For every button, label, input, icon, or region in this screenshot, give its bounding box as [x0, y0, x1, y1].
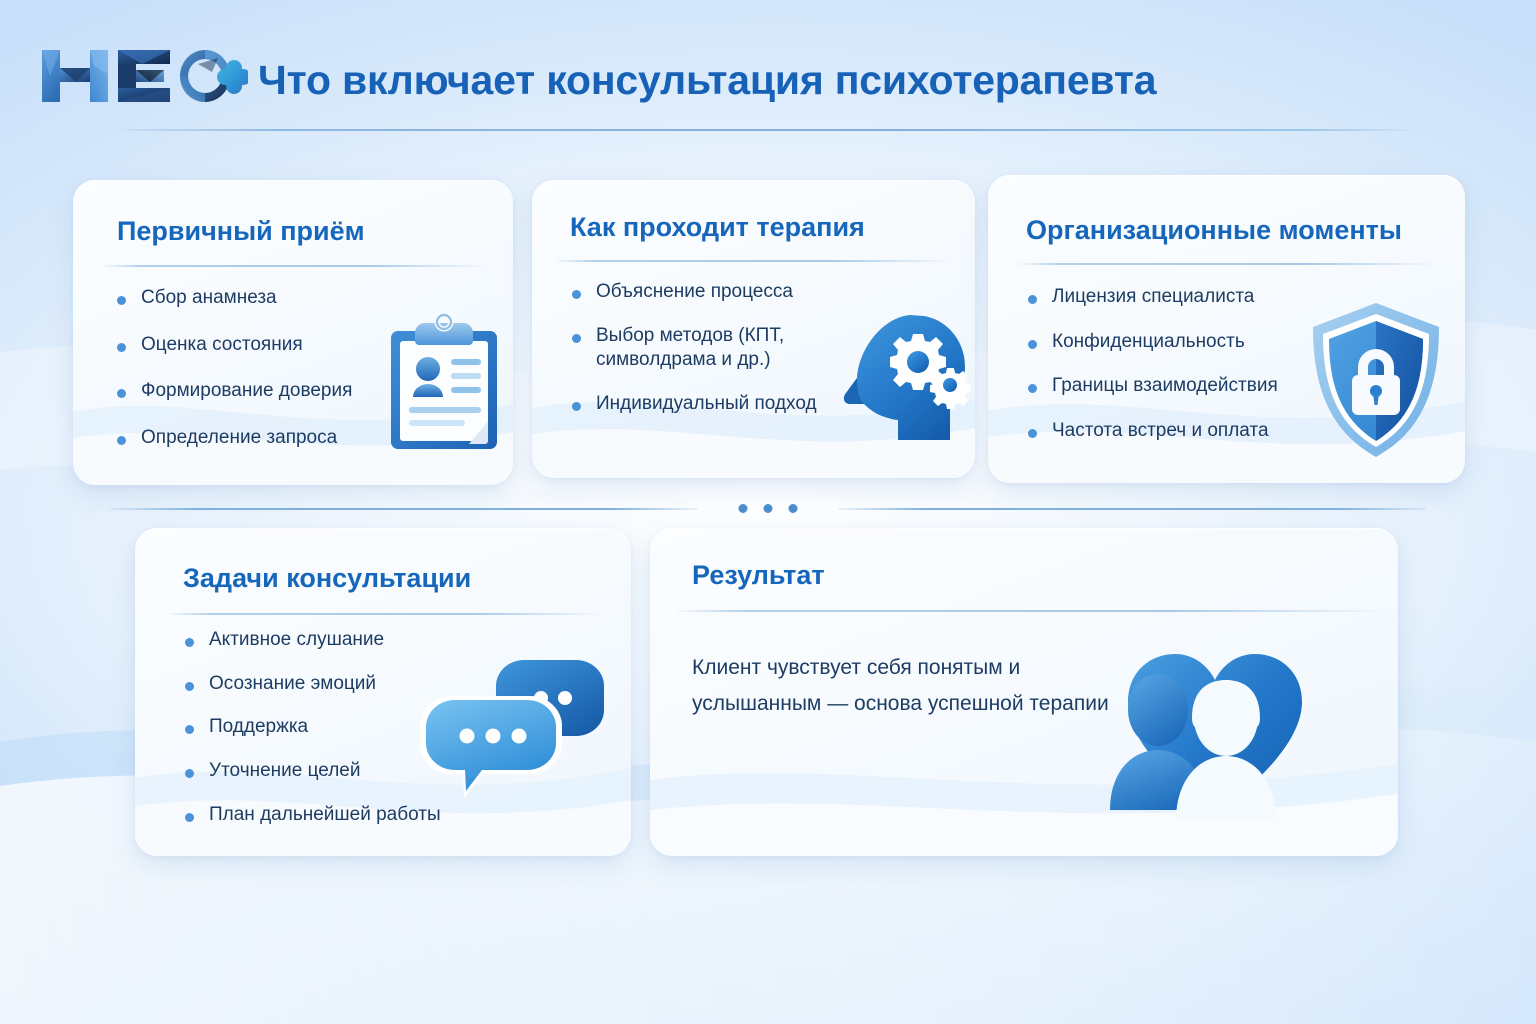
- divider-line-right: [838, 508, 1426, 510]
- list-item: Определение запроса: [113, 426, 423, 451]
- list-item: Границы взаимодействия: [1024, 374, 1354, 399]
- three-dots-divider-icon: [739, 504, 798, 513]
- card-primary-appointment[interactable]: Первичный приём Сбор анамнеза Оценка сос…: [73, 180, 513, 485]
- card-organizational-details[interactable]: Организационные моменты Лицензия специал…: [988, 175, 1465, 483]
- divider-dot: [764, 504, 773, 513]
- bullet-list: Лицензия специалиста Конфиденциальность …: [1024, 285, 1354, 464]
- result-description: Клиент чувствует себя понятым и услышанн…: [692, 650, 1112, 722]
- card-title: Как проходит терапия: [570, 212, 865, 243]
- list-item: Индивидуальный подход: [568, 392, 846, 417]
- card-title-divider: [556, 260, 946, 262]
- divider-line-left: [110, 508, 698, 510]
- card-title-divider: [1018, 263, 1432, 265]
- list-item: Осознание эмоций: [181, 672, 481, 697]
- list-item: Активное слушание: [181, 628, 481, 653]
- page-title: Что включает консультация психотерапевта: [258, 58, 1156, 103]
- list-item: Поддержка: [181, 715, 481, 740]
- list-item: Частота встреч и оплата: [1024, 419, 1354, 444]
- section-divider: [110, 500, 1426, 518]
- list-item: Сбор анамнеза: [113, 286, 423, 311]
- card-title: Результат: [692, 560, 825, 591]
- card-title-divider: [103, 265, 481, 267]
- list-item: План дальнейшей работы: [181, 803, 481, 828]
- bullet-list: Объяснение процесса Выбор методов (КПТ, …: [568, 280, 846, 436]
- card-title: Организационные моменты: [1026, 215, 1402, 246]
- list-item: Оценка состояния: [113, 333, 423, 358]
- card-result[interactable]: Результат Клиент чувствует себя понятым …: [650, 528, 1398, 856]
- card-title-divider: [169, 613, 599, 615]
- list-item: Выбор методов (КПТ, символдрама и др.): [568, 324, 846, 373]
- header-divider: [126, 129, 1410, 131]
- bullet-list: Сбор анамнеза Оценка состояния Формирова…: [113, 286, 423, 473]
- people-heart-icon: [1080, 614, 1350, 834]
- card-title: Первичный приём: [117, 216, 365, 247]
- page-header: Что включает консультация психотерапевта: [0, 0, 1536, 146]
- list-item: Уточнение целей: [181, 759, 481, 784]
- list-item: Конфиденциальность: [1024, 330, 1354, 355]
- list-item: Формирование доверия: [113, 379, 423, 404]
- card-therapy-process[interactable]: Как проходит терапия Объяснение процесса…: [532, 180, 975, 478]
- card-title-divider: [676, 610, 1378, 612]
- card-consultation-tasks[interactable]: Задачи консультации Активное слушание Ос…: [135, 528, 631, 856]
- list-item: Объяснение процесса: [568, 280, 846, 305]
- bullet-list: Активное слушание Осознание эмоций Подде…: [181, 628, 481, 846]
- neo-plus-logo-icon: [38, 44, 248, 108]
- head-gears-icon: [832, 308, 972, 448]
- divider-dot: [739, 504, 748, 513]
- card-title: Задачи консультации: [183, 563, 471, 594]
- list-item: Лицензия специалиста: [1024, 285, 1354, 310]
- divider-dot: [789, 504, 798, 513]
